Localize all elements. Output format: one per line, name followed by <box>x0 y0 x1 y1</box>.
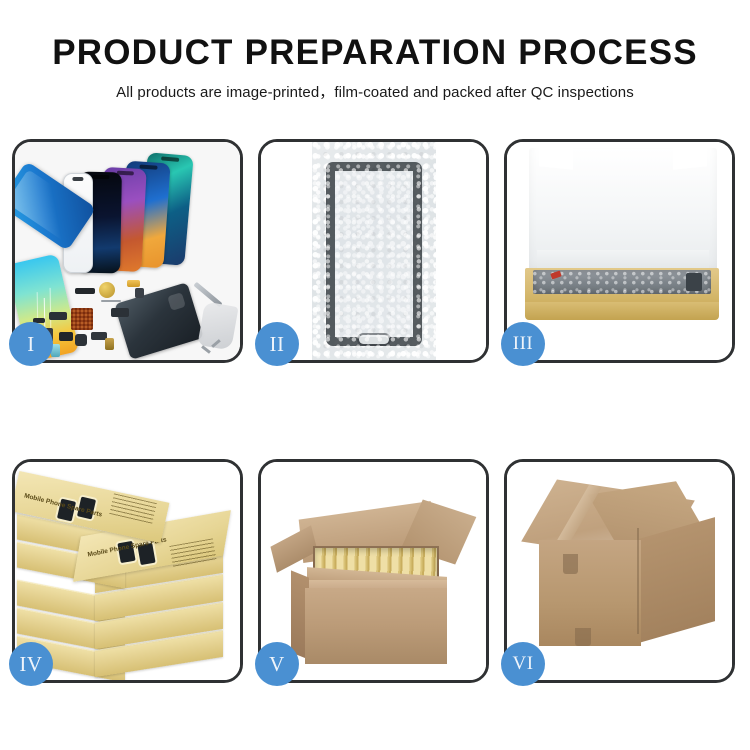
bubble-texture-overlay <box>312 142 436 360</box>
process-step-panel-4: Mobile Phone Spare Parts Mobile Phone Sp… <box>12 459 243 683</box>
kraft-box-front-icon <box>525 302 719 320</box>
spare-part-icon <box>59 332 73 341</box>
spare-part-icon <box>101 300 121 302</box>
phone-chassis-icon <box>114 282 204 360</box>
carton-front-icon <box>305 588 447 664</box>
process-step-grid: I II III <box>12 139 738 683</box>
step-3-image <box>507 142 732 360</box>
step-6-image <box>507 462 732 680</box>
step-1-image <box>15 142 240 360</box>
carton-side-face-icon <box>639 517 715 643</box>
step-5-image <box>261 462 486 680</box>
spare-part-icon <box>135 288 144 298</box>
process-step-panel-5: V <box>258 459 489 683</box>
open-kraft-box-scene <box>507 142 732 360</box>
process-step-panel-6: VI <box>504 459 735 683</box>
bubble-wrap-sheet-icon <box>312 142 436 360</box>
phone-notch-icon <box>139 165 157 170</box>
step-2-image <box>261 142 486 360</box>
step-badge-2: II <box>255 322 299 366</box>
sealed-carton-scene <box>507 462 732 680</box>
spare-part-icon <box>127 280 140 287</box>
spare-part-icon <box>75 334 87 346</box>
step-4-image: Mobile Phone Spare Parts Mobile Phone Sp… <box>15 462 240 680</box>
open-carton-scene <box>261 462 486 680</box>
phone-notch-icon <box>92 175 109 179</box>
bubble-wrap-scene <box>261 142 486 360</box>
spare-part-icon <box>105 338 114 350</box>
step-badge-6: VI <box>501 642 545 686</box>
step-badge-5: V <box>255 642 299 686</box>
spare-part-icon <box>49 312 67 320</box>
spare-part-icon <box>99 282 115 298</box>
process-step-panel-3: III <box>504 139 735 363</box>
step-badge-4: IV <box>9 642 53 686</box>
step-badge-3: III <box>501 322 545 366</box>
carton-handle-notch-icon <box>563 554 578 574</box>
carton-handle-notch-icon <box>575 628 591 646</box>
page-subtitle: All products are image-printed，film-coat… <box>0 81 750 102</box>
process-step-panel-1: I <box>12 139 243 363</box>
spare-part-icon <box>111 308 129 317</box>
phone-notch-icon <box>161 156 180 162</box>
step-badge-1: I <box>9 322 53 366</box>
spare-part-icon <box>75 288 95 294</box>
phone-notch-icon <box>72 177 83 181</box>
phone-parts-scene <box>15 142 240 360</box>
spare-part-icon <box>71 308 93 330</box>
connector-chip-icon <box>686 273 702 291</box>
page-title: PRODUCT PREPARATION PROCESS <box>0 34 750 72</box>
carton-flap-left-icon <box>270 525 317 573</box>
page-header: PRODUCT PREPARATION PROCESS All products… <box>0 0 750 102</box>
stacked-boxes-scene: Mobile Phone Spare Parts Mobile Phone Sp… <box>15 462 240 680</box>
process-step-panel-2: II <box>258 139 489 363</box>
carton-edge-line <box>637 528 639 634</box>
